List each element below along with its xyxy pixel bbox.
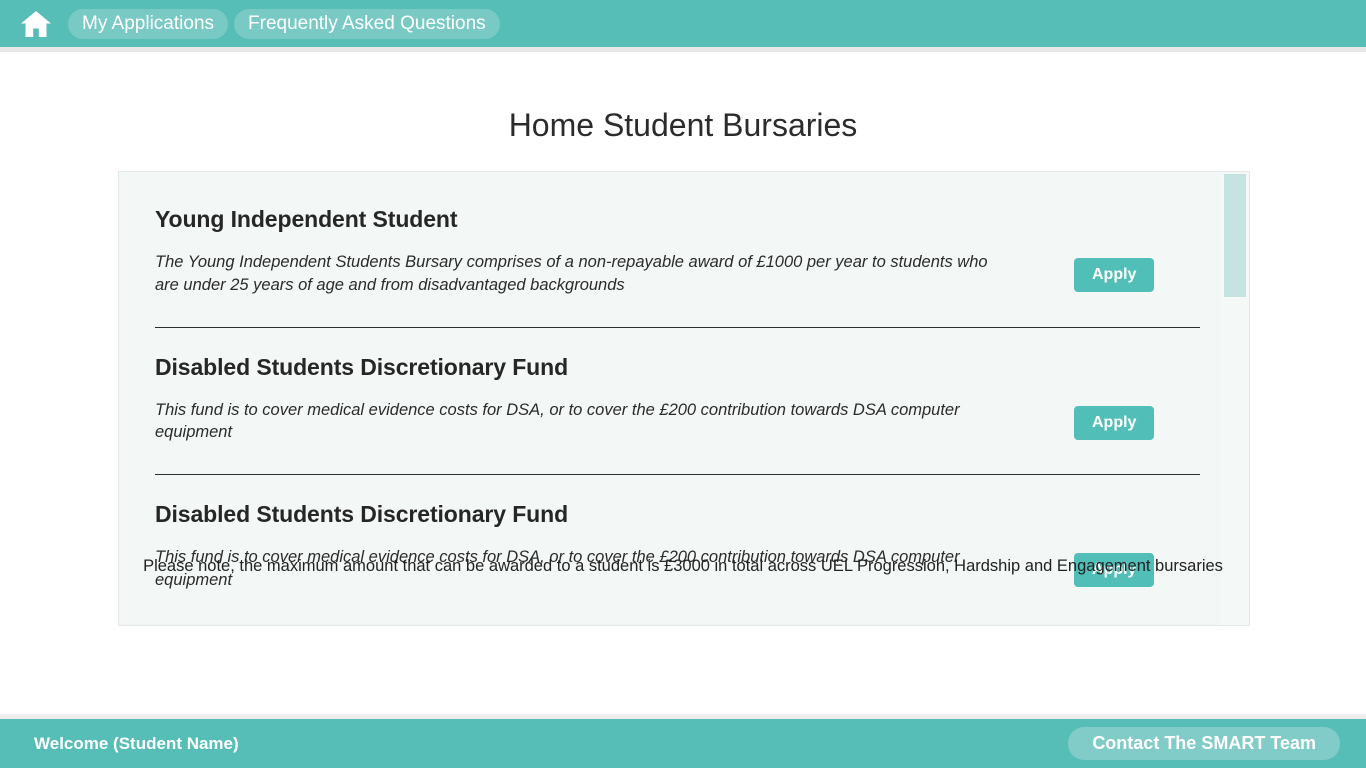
bursary-title: Disabled Students Discretionary Fund [155, 501, 1054, 528]
bursary-item: Young Independent Student The Young Inde… [119, 206, 1222, 297]
welcome-message: Welcome (Student Name) [34, 734, 239, 754]
bursary-text-block: Disabled Students Discretionary Fund Thi… [155, 354, 1074, 445]
bursary-action-area: Apply [1074, 354, 1194, 440]
apply-button[interactable]: Apply [1074, 258, 1154, 292]
main-content: Home Student Bursaries Young Independent… [0, 57, 1366, 714]
bursary-item: Disabled Students Discretionary Fund Thi… [119, 354, 1222, 445]
bursary-text-block: Young Independent Student The Young Inde… [155, 206, 1074, 297]
bursary-text-block: Disabled Students Discretionary Fund Thi… [155, 501, 1074, 592]
row-divider [155, 474, 1200, 475]
contact-smart-team-button[interactable]: Contact The SMART Team [1068, 727, 1340, 760]
nav-item-my-applications[interactable]: My Applications [68, 9, 228, 39]
bursary-title: Disabled Students Discretionary Fund [155, 354, 1054, 381]
top-navigation-bar: My Applications Frequently Asked Questio… [0, 0, 1366, 52]
bursary-description: This fund is to cover medical evidence c… [155, 399, 990, 445]
row-divider [155, 327, 1200, 328]
bursary-item: Disabled Students Discretionary Fund Thi… [119, 501, 1222, 592]
scrollbar-thumb[interactable] [1224, 174, 1246, 297]
bursary-description: The Young Independent Students Bursary c… [155, 251, 990, 297]
bursary-title: Young Independent Student [155, 206, 1054, 233]
apply-button[interactable]: Apply [1074, 406, 1154, 440]
home-icon[interactable] [16, 7, 56, 41]
bursary-action-area: Apply [1074, 206, 1194, 292]
page-title: Home Student Bursaries [0, 107, 1366, 144]
maximum-award-note: Please note, the maximum amount that can… [0, 557, 1366, 576]
footer-bar: Welcome (Student Name) Contact The SMART… [0, 714, 1366, 768]
nav-item-faq[interactable]: Frequently Asked Questions [234, 9, 500, 39]
